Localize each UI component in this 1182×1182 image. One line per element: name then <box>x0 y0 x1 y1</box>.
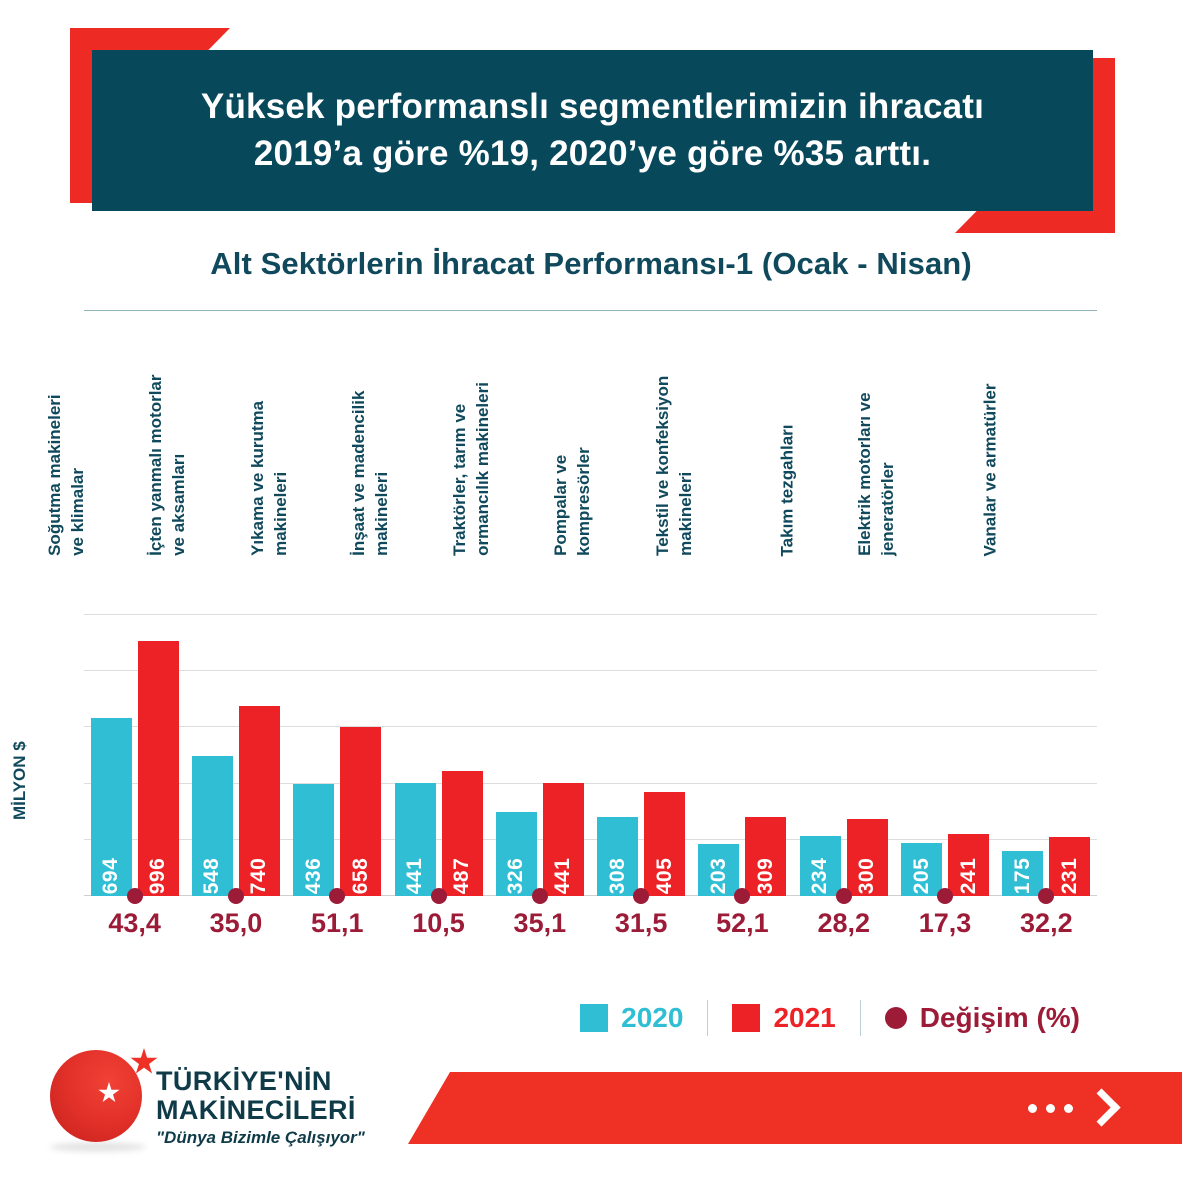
bar-group: 441487 <box>388 614 489 896</box>
bar-value-label: 309 <box>754 858 778 895</box>
change-marker-dot-icon <box>1038 888 1054 904</box>
bar-value-label: 241 <box>957 858 981 895</box>
bar-chart-plot: 6949965487404366584414873264413084052033… <box>84 614 1097 896</box>
logo-shadow <box>50 1142 146 1152</box>
legend-label-2021: 2021 <box>773 1002 835 1034</box>
chart-subtitle: Alt Sektörlerin İhracat Performansı-1 (O… <box>0 246 1182 282</box>
chart-legend: 2020 2021 Değişim (%) <box>556 995 1104 1041</box>
bar-2021[interactable]: 300 <box>847 819 888 896</box>
category-label-line: Soğutma makineleri <box>43 394 66 556</box>
bar-2021[interactable]: 405 <box>644 792 685 896</box>
bar-2021[interactable]: 309 <box>745 817 786 896</box>
change-marker-dot-icon <box>836 888 852 904</box>
category-label-line: İçten yanmalı motorlar <box>144 375 167 556</box>
change-marker-dot-icon <box>532 888 548 904</box>
bar-value-label: 658 <box>349 858 373 895</box>
category-label: İnşaat ve madencilikmakineleri <box>347 391 394 556</box>
bar-group: 308405 <box>590 614 691 896</box>
category-label: İçten yanmalı motorlarve aksamları <box>144 375 191 556</box>
bar-2021[interactable]: 487 <box>442 771 483 896</box>
bar-2021[interactable]: 241 <box>948 834 989 896</box>
bar-2020[interactable]: 548 <box>192 756 233 896</box>
bar-value-label: 300 <box>855 858 879 895</box>
header-banner: Yüksek performanslı segmentlerimizin ihr… <box>70 28 1115 233</box>
bar-value-label: 441 <box>403 858 427 895</box>
footer-next-indicator[interactable] <box>1028 1090 1110 1126</box>
change-marker-dot-icon <box>329 888 345 904</box>
category-label-line: Vanalar ve armatürler <box>978 383 1001 556</box>
bar-group: 234300 <box>793 614 894 896</box>
change-percent-value: 43,4 <box>84 908 185 952</box>
category-label: Soğutma makinelerive klimalar <box>43 394 90 556</box>
logo-text-line1: TÜRKİYE'NİN <box>156 1066 332 1097</box>
bar-2020[interactable]: 205 <box>901 843 942 896</box>
category-label-line: jeneratörler <box>877 393 900 556</box>
change-marker-dot-icon <box>228 888 244 904</box>
bar-2020[interactable]: 436 <box>293 784 334 896</box>
bar-2020[interactable]: 694 <box>91 718 132 896</box>
category-label: Traktörler, tarım veormancılık makineler… <box>448 382 495 556</box>
bar-value-label: 436 <box>302 858 326 895</box>
category-label-line: Elektrik motorları ve <box>853 393 876 556</box>
header-headline-line2: 2019’a göre %19, 2020’ye göre %35 arttı. <box>254 131 931 177</box>
bar-group: 203309 <box>692 614 793 896</box>
change-percent-value: 51,1 <box>287 908 388 952</box>
category-label: Pompalar vekompresörler <box>550 447 597 556</box>
bar-group: 205241 <box>894 614 995 896</box>
bar-2021[interactable]: 996 <box>138 641 179 896</box>
category-label-line: kompresörler <box>573 447 596 556</box>
bar-value-label: 405 <box>653 858 677 895</box>
bar-value-label: 548 <box>200 858 224 895</box>
bar-value-label: 441 <box>551 858 575 895</box>
category-label-line: Traktörler, tarım ve <box>448 382 471 556</box>
bar-groups: 6949965487404366584414873264413084052033… <box>84 614 1097 896</box>
legend-item-change[interactable]: Değişim (%) <box>861 1002 1104 1034</box>
bar-2020[interactable]: 234 <box>800 836 841 896</box>
bar-value-label: 326 <box>504 858 528 895</box>
bar-2020[interactable]: 308 <box>597 817 638 896</box>
bar-group: 326441 <box>489 614 590 896</box>
change-marker-dot-icon <box>734 888 750 904</box>
change-percent-value: 35,0 <box>185 908 286 952</box>
bar-2021[interactable]: 441 <box>543 783 584 896</box>
change-percent-value: 35,1 <box>489 908 590 952</box>
category-label-line: makineleri <box>674 376 697 556</box>
category-label-line: ve klimalar <box>67 394 90 556</box>
footer-dot-1-icon <box>1028 1104 1037 1113</box>
category-label-line: ve aksamları <box>168 375 191 556</box>
legend-item-2021[interactable]: 2021 <box>708 1002 859 1034</box>
legend-swatch-2020-icon <box>580 1004 608 1032</box>
bar-value-label: 205 <box>910 858 934 895</box>
legend-label-2020: 2020 <box>621 1002 683 1034</box>
bar-2021[interactable]: 231 <box>1049 837 1090 896</box>
category-label-line: ormancılık makineleri <box>472 382 495 556</box>
bar-value-label: 740 <box>247 858 271 895</box>
logo-text-line2: MAKİNECİLERİ <box>156 1095 356 1126</box>
bar-2020[interactable]: 441 <box>395 783 436 896</box>
change-percent-value: 32,2 <box>996 908 1097 952</box>
logo-sphere-icon <box>50 1050 142 1142</box>
bar-2021[interactable]: 658 <box>340 727 381 896</box>
bar-value-label: 996 <box>146 858 170 895</box>
bar-value-label: 175 <box>1011 858 1035 895</box>
change-percent-row: 43,435,051,110,535,131,552,128,217,332,2 <box>84 908 1097 952</box>
logo-tagline: "Dünya Bizimle Çalışıyor" <box>156 1128 365 1148</box>
change-marker-dot-icon <box>127 888 143 904</box>
legend-label-change: Değişim (%) <box>920 1002 1080 1034</box>
bar-2021[interactable]: 740 <box>239 706 280 896</box>
category-label: Takım tezgahları <box>776 424 799 556</box>
chevron-right-icon <box>1088 1090 1110 1126</box>
bar-value-label: 231 <box>1058 858 1082 895</box>
change-marker-dot-icon <box>633 888 649 904</box>
bar-2020[interactable]: 175 <box>1002 851 1043 896</box>
infographic-page: Yüksek performanslı segmentlerimizin ihr… <box>0 0 1182 1182</box>
bar-value-label: 308 <box>606 858 630 895</box>
bar-2020[interactable]: 326 <box>496 812 537 896</box>
change-marker-dot-icon <box>431 888 447 904</box>
change-percent-value: 52,1 <box>692 908 793 952</box>
header-headline-line1: Yüksek performanslı segmentlerimizin ihr… <box>201 84 984 130</box>
category-label-line: Pompalar ve <box>550 447 573 556</box>
category-label: Tekstil ve konfeksiyonmakineleri <box>651 376 698 556</box>
category-label-line: makineleri <box>269 401 292 556</box>
category-labels: Soğutma makinelerive klimalarİçten yanma… <box>84 316 1097 556</box>
bar-group: 548740 <box>185 614 286 896</box>
change-percent-value: 17,3 <box>894 908 995 952</box>
bar-2020[interactable]: 203 <box>698 844 739 896</box>
change-percent-value: 10,5 <box>388 908 489 952</box>
subtitle-divider <box>84 310 1097 311</box>
category-label-line: Yıkama ve kurutma <box>246 401 269 556</box>
category-label: Vanalar ve armatürler <box>978 383 1001 556</box>
category-label-cell: Vanalar ve armatürler <box>996 316 1097 556</box>
legend-swatch-2021-icon <box>732 1004 760 1032</box>
category-label-line: İnşaat ve madencilik <box>347 391 370 556</box>
brand-logo: TÜRKİYE'NİN MAKİNECİLERİ "Dünya Bizimle … <box>44 1042 384 1167</box>
category-label: Yıkama ve kurutmamakineleri <box>246 401 293 556</box>
legend-dot-change-icon <box>885 1007 907 1029</box>
footer-dot-2-icon <box>1046 1104 1055 1113</box>
y-axis-label: MİLYON $ <box>10 741 30 820</box>
change-percent-value: 28,2 <box>793 908 894 952</box>
bar-value-label: 234 <box>808 858 832 895</box>
change-marker-dot-icon <box>937 888 953 904</box>
category-label: Elektrik motorları vejeneratörler <box>853 393 900 556</box>
category-label-line: Takım tezgahları <box>776 424 799 556</box>
bar-group: 175231 <box>996 614 1097 896</box>
bar-group: 436658 <box>287 614 388 896</box>
bar-group: 694996 <box>84 614 185 896</box>
legend-item-2020[interactable]: 2020 <box>556 1002 707 1034</box>
bar-value-label: 694 <box>99 858 123 895</box>
bar-value-label: 487 <box>450 858 474 895</box>
category-label-line: makineleri <box>370 391 393 556</box>
footer-dot-3-icon <box>1064 1104 1073 1113</box>
category-label-line: Tekstil ve konfeksiyon <box>651 376 674 556</box>
header-banner-box: Yüksek performanslı segmentlerimizin ihr… <box>92 50 1093 211</box>
change-percent-value: 31,5 <box>590 908 691 952</box>
bar-value-label: 203 <box>707 858 731 895</box>
